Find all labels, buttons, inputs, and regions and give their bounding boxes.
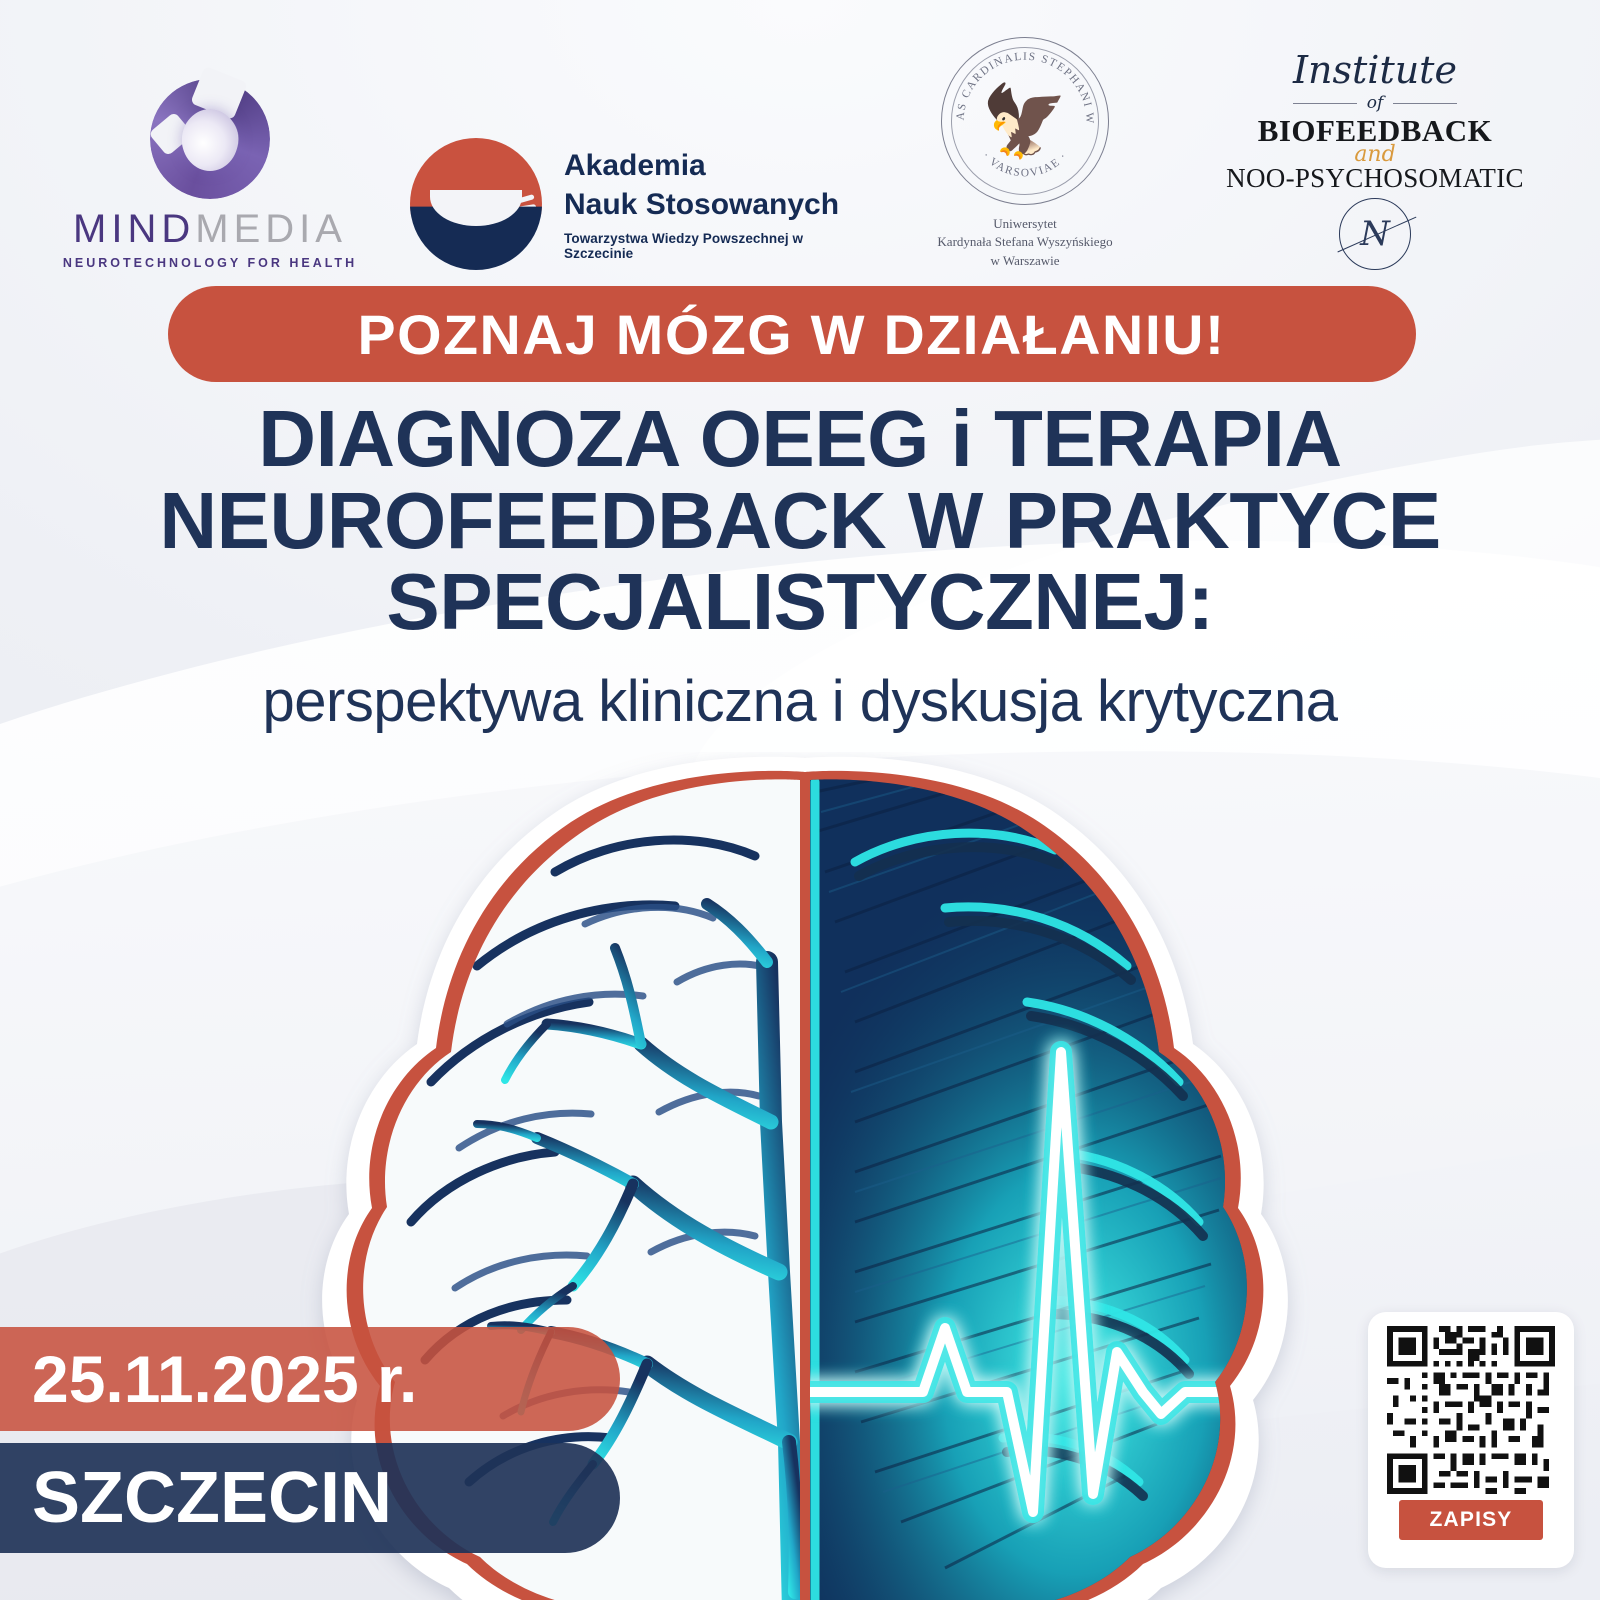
svg-text:· VARSOVIAE ·: · VARSOVIAE · xyxy=(980,150,1070,179)
mindmedia-word-primary: MIND xyxy=(73,207,195,251)
qr-registration-card[interactable]: ZAPISY xyxy=(1368,1312,1574,1568)
institute-main2-word: NOO-PSYCHOSOMATIC xyxy=(1226,163,1524,194)
title-line-1: DIAGNOZA OEEG i TERAPIA xyxy=(0,398,1600,480)
uksw-caption-line3: w Warszawie xyxy=(937,252,1112,270)
institute-script-word: Institute xyxy=(1293,51,1457,89)
title-line-3: SPECJALISTYCZNEJ: xyxy=(0,561,1600,643)
event-date-text: 25.11.2025 r. xyxy=(32,1341,417,1417)
akademia-line2: Nauk Stosowanych xyxy=(564,186,840,224)
poster-canvas: MINDMEDIA NEUROTECHNOLOGY FOR HEALTH Aka… xyxy=(0,0,1600,1600)
uksw-eagle-icon: 🦅 xyxy=(981,86,1068,156)
institute-monogram-icon: N xyxy=(1339,198,1411,270)
logo-uksw: UNIVERSITAS CARDINALIS STEPHANI WYSZYNSK… xyxy=(890,37,1160,270)
title-line-2: NEUROFEEDBACK W PRAKTYCE xyxy=(0,480,1600,562)
uksw-seal-icon: UNIVERSITAS CARDINALIS STEPHANI WYSZYNSK… xyxy=(941,37,1109,205)
event-city-banner: SZCZECIN xyxy=(0,1443,620,1553)
akademia-line1: Akademia xyxy=(564,147,840,185)
svg-text:UNIVERSITAS CARDINALIS STEPHAN: UNIVERSITAS CARDINALIS STEPHANI WYSZYNSK… xyxy=(942,38,1095,125)
kicker-banner: POZNAJ MÓZG W DZIAŁANIU! xyxy=(168,286,1416,382)
qr-code-icon[interactable] xyxy=(1387,1326,1555,1494)
zapisy-button[interactable]: ZAPISY xyxy=(1399,1500,1543,1540)
logo-mindmedia: MINDMEDIA NEUROTECHNOLOGY FOR HEALTH xyxy=(60,79,360,270)
logo-institute-biofeedback: Institute of BIOFEEDBACK and NOO-PSYCHOS… xyxy=(1210,51,1540,270)
partner-logo-row: MINDMEDIA NEUROTECHNOLOGY FOR HEALTH Aka… xyxy=(0,40,1600,270)
logo-akademia-nauk-stosowanych: Akademia Nauk Stosowanych Towarzystwa Wi… xyxy=(410,138,840,270)
mindmedia-word-secondary: MEDIA xyxy=(195,207,347,251)
mindmedia-tagline: NEUROTECHNOLOGY FOR HEALTH xyxy=(63,256,357,270)
page-subtitle: perspektywa kliniczna i dyskusja krytycz… xyxy=(0,668,1600,735)
akademia-book-sun-icon xyxy=(410,138,542,270)
mindmedia-wordmark: MINDMEDIA xyxy=(73,209,347,249)
akademia-subline: Towarzystwa Wiedzy Powszechnej w Szczeci… xyxy=(564,231,840,261)
event-date-banner: 25.11.2025 r. xyxy=(0,1327,620,1431)
uksw-caption-line1: Uniwersytet xyxy=(937,215,1112,233)
kicker-text: POZNAJ MÓZG W DZIAŁANIU! xyxy=(358,302,1226,367)
page-title: DIAGNOZA OEEG i TERAPIA NEUROFEEDBACK W … xyxy=(0,398,1600,643)
institute-of-word: of xyxy=(1210,93,1540,113)
uksw-caption: Uniwersytet Kardynała Stefana Wyszyńskie… xyxy=(937,215,1112,270)
event-city-text: SZCZECIN xyxy=(32,1457,392,1539)
mindmedia-swirl-icon xyxy=(150,79,270,199)
uksw-caption-line2: Kardynała Stefana Wyszyńskiego xyxy=(937,233,1112,251)
